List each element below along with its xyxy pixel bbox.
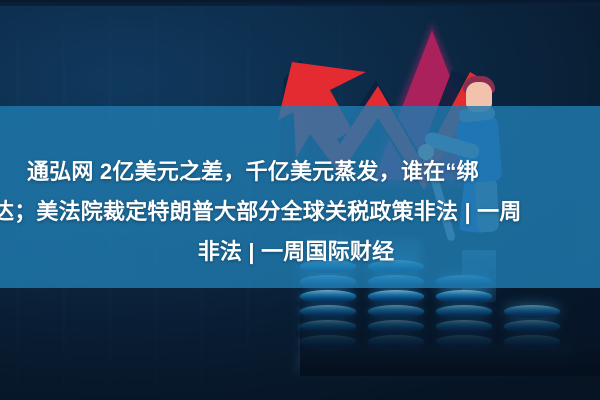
headline-line-1: 通弘网 2亿美元之差，千亿美元蒸发，谁在“绑 [0, 152, 600, 192]
headline-text-block: 通弘网 2亿美元之差，千亿美元蒸发，谁在“绑 达；美法院裁定特朗普大部分全球关税… [0, 152, 600, 272]
headline-line-2: 达；美法院裁定特朗普大部分全球关税政策非法 | 一周 [0, 192, 600, 232]
news-banner-image: 通弘网 2亿美元之差，千亿美元蒸发，谁在“绑 达；美法院裁定特朗普大部分全球关税… [0, 0, 600, 400]
headline-line-3: 非法 | 一周国际财经 [0, 232, 600, 272]
